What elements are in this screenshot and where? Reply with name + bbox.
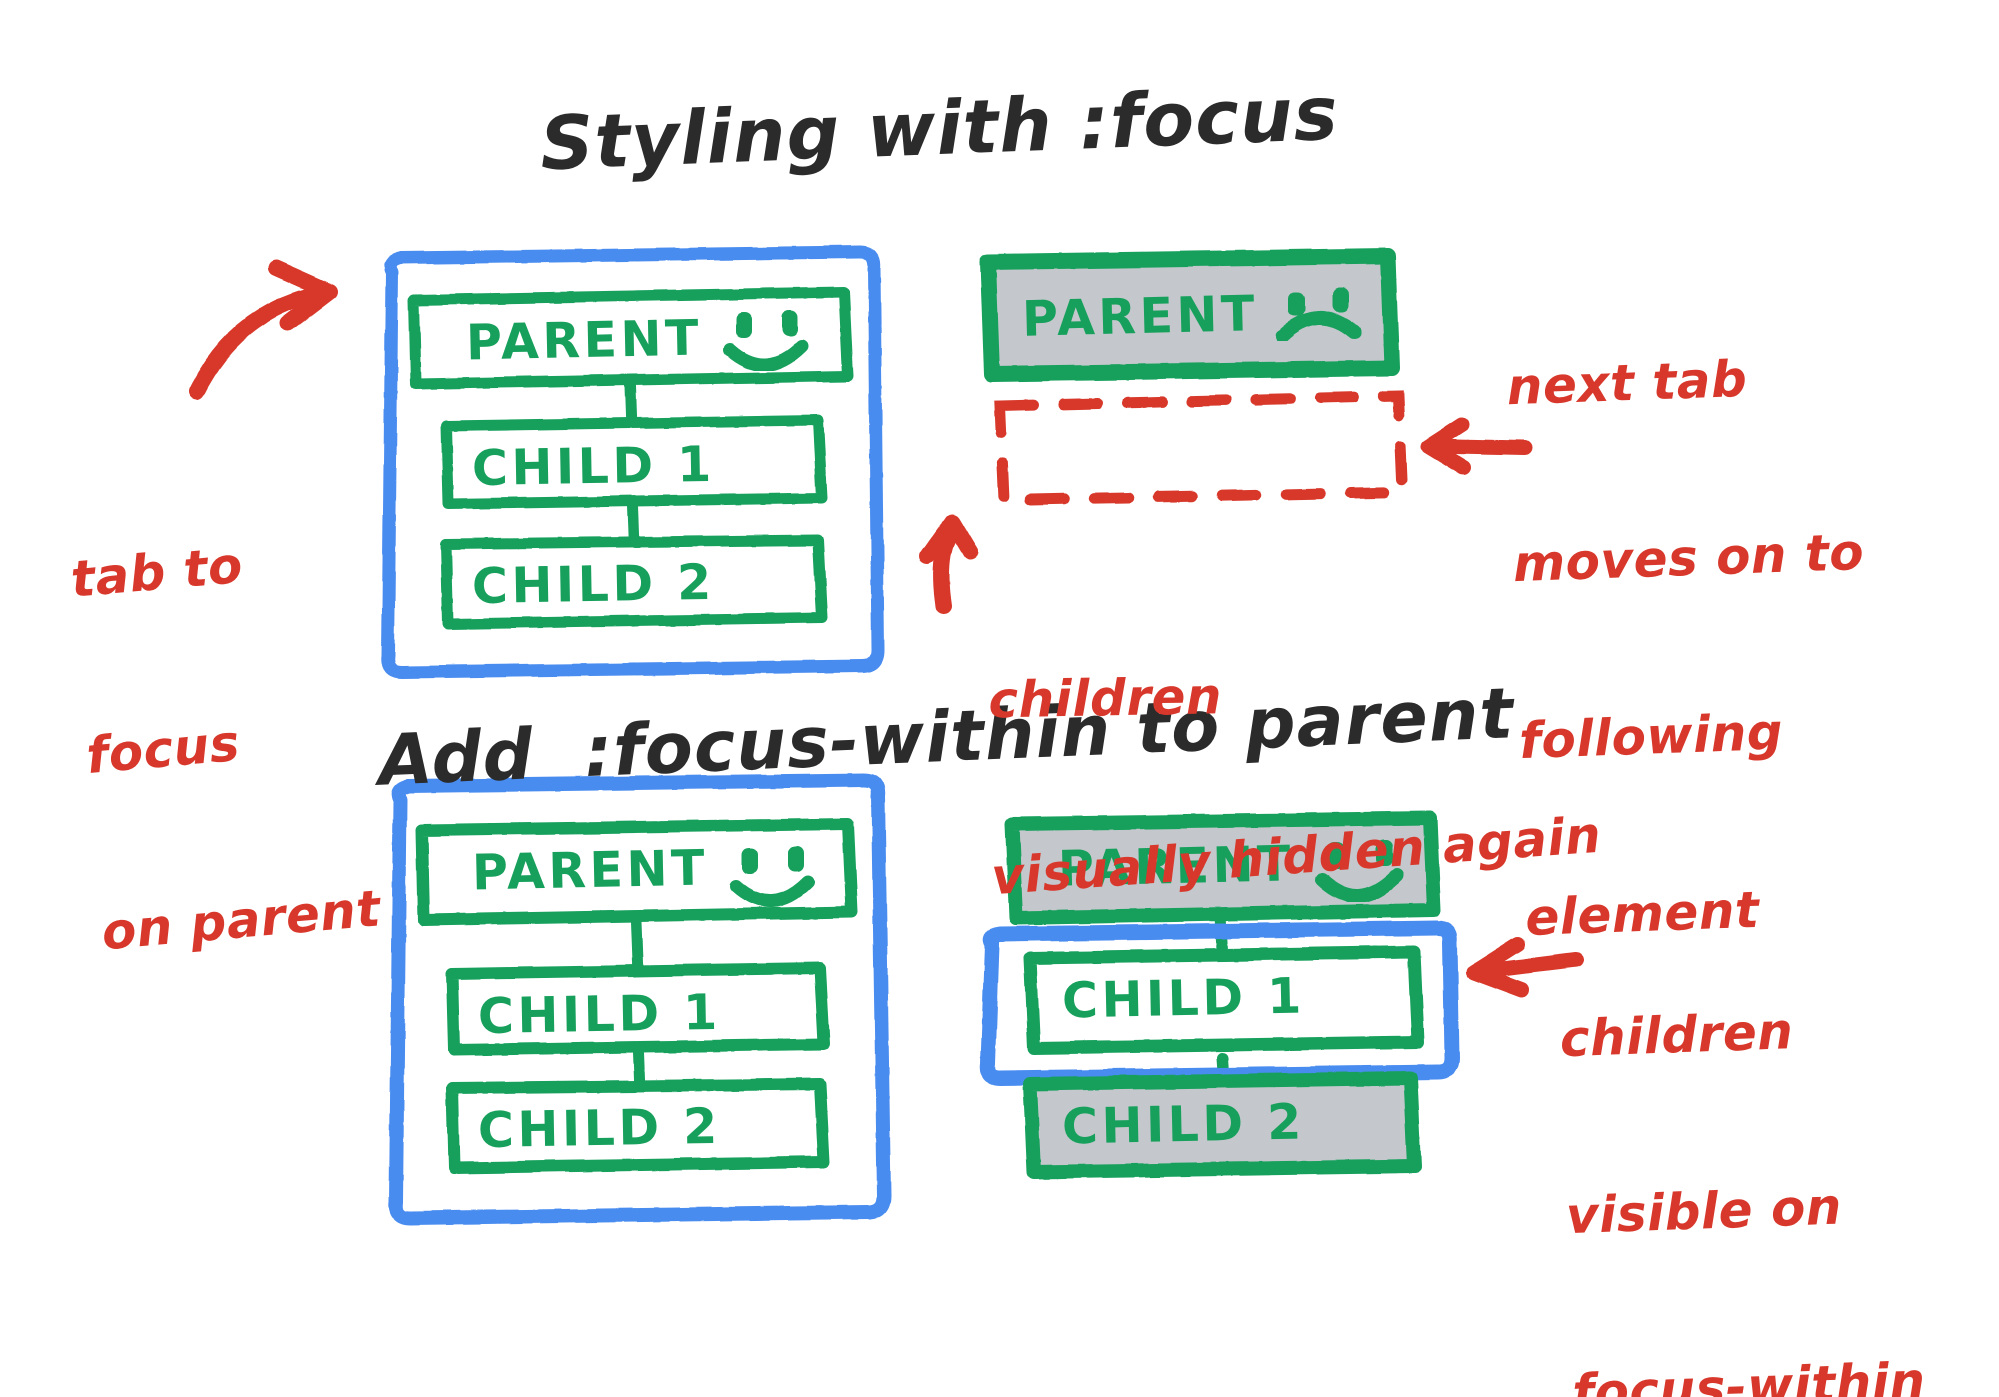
node-label-parent-bottom-left: PARENT xyxy=(471,840,708,902)
annotation-line: focus xyxy=(84,703,368,786)
annotation-line: children xyxy=(988,661,1600,731)
annotation-line: tab to xyxy=(69,527,353,610)
annotation-line: next tab xyxy=(1506,346,1859,417)
annotation-line: children xyxy=(1559,998,1914,1069)
node-label-parent-top-right: PARENT xyxy=(1021,285,1258,348)
node-label-child2-bottom-left: CHILD 2 xyxy=(478,1098,722,1159)
annotation-line: visible on xyxy=(1565,1175,1920,1246)
annotation-tab-to-focus: tab to focus on parent xyxy=(58,409,393,1080)
node-label-child2-bottom-right: CHILD 2 xyxy=(1061,1093,1305,1155)
node-label-parent-top-left: PARENT xyxy=(465,310,702,372)
node-label-child1-top-left: CHILD 1 xyxy=(472,436,716,497)
annotation-children-hidden: children visually hidden again xyxy=(986,543,1605,1026)
annotation-line: on parent xyxy=(99,879,383,962)
annotation-line: focus-within xyxy=(1571,1352,1926,1397)
node-label-child2-top-left: CHILD 2 xyxy=(472,554,716,615)
annotation-children-visible: children visible on focus-within xyxy=(1555,880,1931,1397)
hidden-children-placeholder xyxy=(1000,396,1402,500)
node-label-child1-bottom-left: CHILD 1 xyxy=(478,984,722,1045)
annotation-line: visually hidden again xyxy=(990,806,1603,907)
sketch-canvas: Styling with :focus Add :focus-within to… xyxy=(0,0,1999,1397)
